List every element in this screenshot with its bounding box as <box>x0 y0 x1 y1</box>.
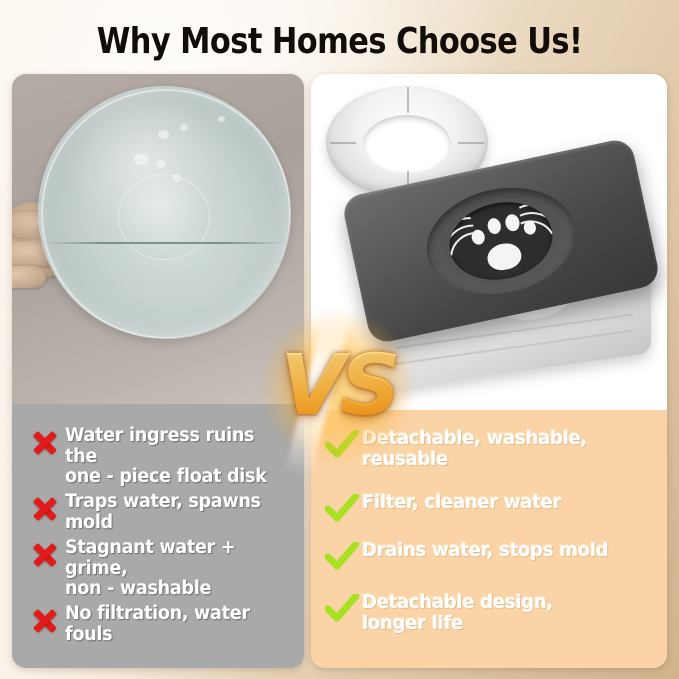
water-bubble <box>134 154 148 165</box>
water-bubble <box>180 124 188 131</box>
list-item-label: Traps water, spawns mold <box>65 492 288 533</box>
water-bubble <box>172 174 181 182</box>
float-disk-graphic <box>38 86 290 338</box>
x-mark-icon <box>30 428 60 458</box>
our-product-panel: Detachable, washable, reusable Filter, c… <box>311 74 667 668</box>
list-item-label: Drains water, stops mold <box>362 540 608 561</box>
disk-inner-circle <box>118 174 210 260</box>
ring-hole <box>363 115 451 173</box>
ring-seam <box>458 142 484 144</box>
list-item-label: Water ingress ruins the one - piece floa… <box>65 426 288 488</box>
competitor-drawback-list: Water ingress ruins the one - piece floa… <box>12 404 304 668</box>
check-mark-icon <box>325 542 359 572</box>
list-item: Drains water, stops mold <box>325 540 661 572</box>
competitor-panel: Water ingress ruins the one - piece floa… <box>12 74 304 668</box>
base-rib <box>395 330 633 365</box>
x-mark-icon <box>30 540 60 570</box>
water-bubble <box>156 160 166 168</box>
cover-recess <box>417 175 585 308</box>
check-mark-icon <box>325 594 359 624</box>
list-item: Water ingress ruins the one - piece floa… <box>30 426 300 488</box>
list-item: Filter, cleaner water <box>325 492 661 524</box>
list-item: Detachable, washable, reusable <box>325 428 661 470</box>
water-bubble <box>158 130 169 139</box>
list-item: Stagnant water + grime, non - washable <box>30 538 300 600</box>
paw-print-filter-grate <box>442 193 560 289</box>
list-item-label: Detachable design, longer life <box>362 592 553 634</box>
ring-seam <box>330 142 356 144</box>
x-mark-icon <box>30 494 60 524</box>
competitor-product-photo <box>12 74 304 404</box>
disk-seam-line <box>42 242 286 244</box>
list-item-label: Stagnant water + grime, non - washable <box>65 538 288 600</box>
list-item: Detachable design, longer life <box>325 592 661 634</box>
check-mark-icon <box>325 494 359 524</box>
list-item-label: Detachable, washable, reusable <box>362 428 587 470</box>
list-item-label: Filter, cleaner water <box>362 492 561 513</box>
list-item-label: No filtration, water fouls <box>65 604 288 645</box>
our-product-benefit-list: Detachable, washable, reusable Filter, c… <box>311 410 667 668</box>
page-title: Why Most Homes Choose Us! <box>20 20 658 64</box>
x-mark-icon <box>30 606 60 636</box>
our-product-photo <box>311 74 667 410</box>
list-item: No filtration, water fouls <box>30 604 300 645</box>
ring-seam <box>407 87 409 113</box>
check-mark-icon <box>325 430 359 460</box>
list-item: Traps water, spawns mold <box>30 492 300 533</box>
finger-graphic <box>12 266 46 288</box>
infographic-canvas: Why Most Homes Choose Us! <box>0 0 679 679</box>
water-bubble <box>218 116 225 122</box>
